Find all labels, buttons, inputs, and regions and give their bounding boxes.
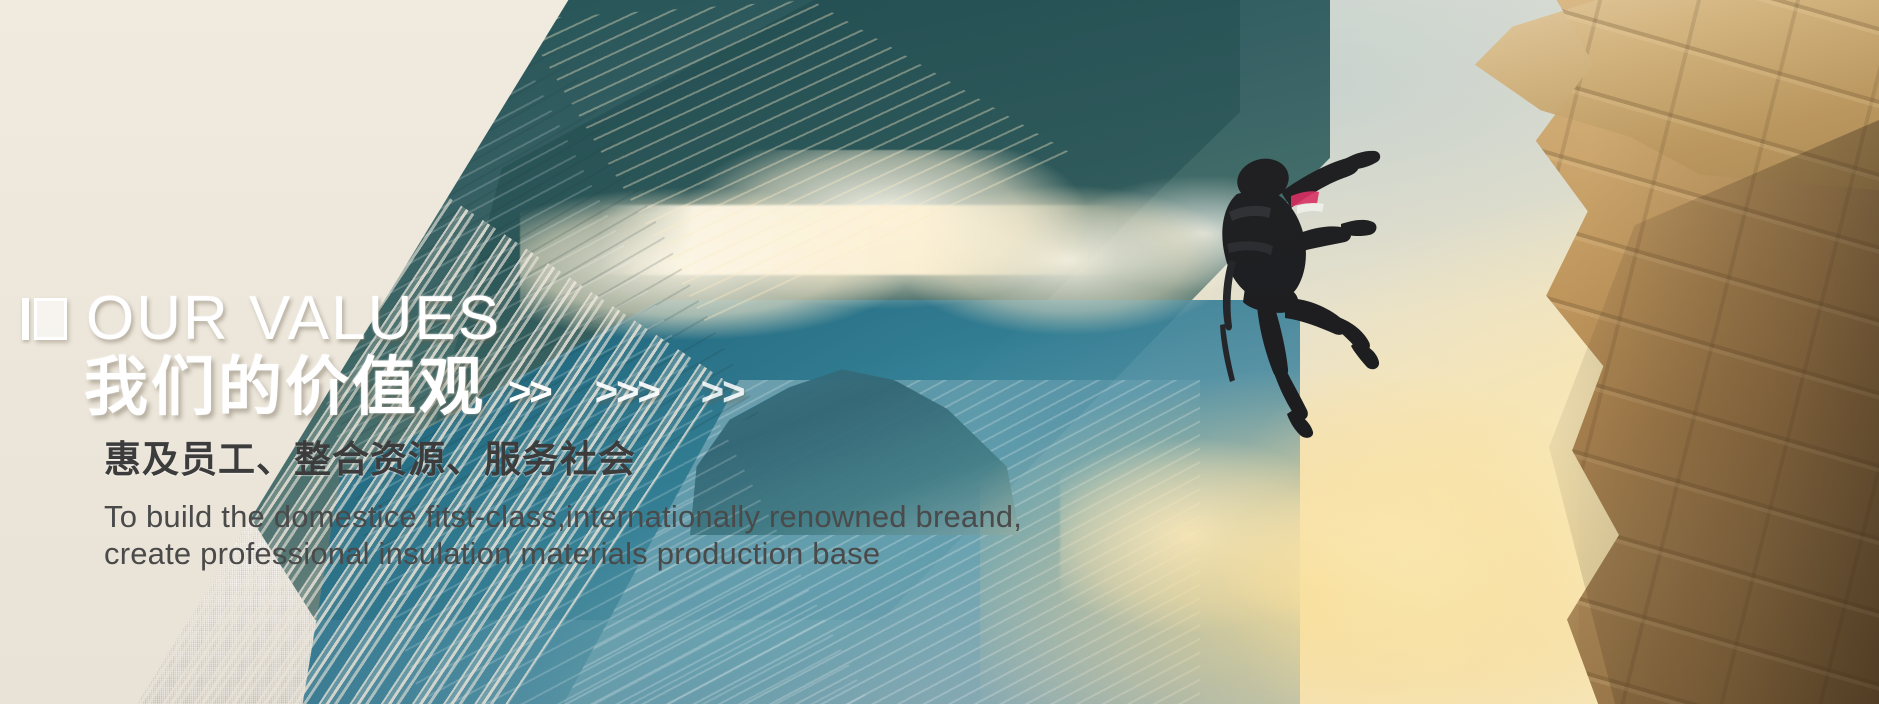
square-bracket-icon xyxy=(22,296,68,342)
page-title-en: OUR VALUES xyxy=(86,288,501,350)
title-row: OUR VALUES xyxy=(18,288,1198,350)
chevron-group-3: >> xyxy=(701,372,744,412)
tagline-en-line2: create professional insulation materials… xyxy=(104,535,1198,572)
chevron-right-icon: >> xyxy=(701,372,744,412)
chevron-right-icon: >> xyxy=(508,372,551,412)
chevron-group-2: >>> xyxy=(595,372,659,412)
chevron-right-icon: >>> xyxy=(595,372,659,412)
tagline-cn: 惠及员工、整合资源、服务社会 xyxy=(18,438,1198,482)
page-title-cn: 我们的价值观 xyxy=(84,352,486,424)
rock-climber-silhouette xyxy=(1185,148,1445,438)
banner-text-block: OUR VALUES 我们的价值观 >> >>> >> 惠及员工、整合资源、服务… xyxy=(18,288,1198,572)
values-banner: OUR VALUES 我们的价值观 >> >>> >> 惠及员工、整合资源、服务… xyxy=(0,0,1879,704)
chevron-group-1: >> xyxy=(508,372,551,412)
tagline-en: To build the domestice fitst-class,inter… xyxy=(18,498,1198,572)
tagline-en-line1: To build the domestice fitst-class,inter… xyxy=(104,499,1022,534)
title-cn-row: 我们的价值观 >> >>> >> xyxy=(18,352,1198,424)
